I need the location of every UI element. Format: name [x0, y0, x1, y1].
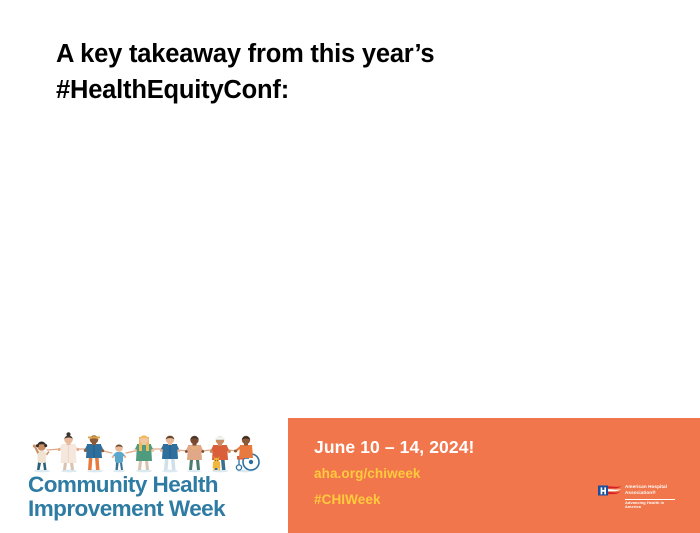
figure-blue-jacket-adult	[84, 435, 105, 470]
chiw-logo: Community Health Improvement Week	[27, 418, 277, 528]
figure-wheelchair-user	[234, 436, 259, 470]
event-url[interactable]: aha.org/chiweek	[314, 467, 474, 482]
aha-flag-h-icon	[598, 485, 622, 500]
people-holding-hands-illustration	[27, 418, 277, 473]
event-banner: June 10 – 14, 2024! aha.org/chiweek #CHI…	[288, 418, 700, 533]
banner-text-block: June 10 – 14, 2024! aha.org/chiweek #CHI…	[314, 438, 474, 508]
slide-canvas: A key takeaway from this year’s #HealthE…	[0, 0, 700, 533]
chiw-wordmark-line-1: Community Health	[28, 473, 278, 497]
event-date: June 10 – 14, 2024!	[314, 438, 474, 457]
aha-name-line-2: Association®	[625, 490, 675, 496]
figure-blue-coat-adult-2	[160, 435, 181, 470]
aha-tagline: Advancing Health in America	[625, 501, 677, 510]
figure-small-child-blue	[112, 444, 127, 470]
figure-with-service-dog	[210, 436, 231, 470]
figure-coat-adult	[58, 432, 80, 470]
page-title: A key takeaway from this year’s #HealthE…	[56, 36, 616, 108]
chiw-wordmark-line-2: Improvement Week	[28, 497, 278, 521]
figure-green-top-adult	[134, 435, 155, 470]
headline-line-1: A key takeaway from this year’s	[56, 36, 616, 72]
event-hashtag: #CHIWeek	[314, 493, 474, 508]
aha-logo: American Hospital Association® Advancing…	[598, 484, 676, 512]
chiw-wordmark: Community Health Improvement Week	[28, 473, 278, 521]
headline-line-2: #HealthEquityConf:	[56, 72, 616, 108]
figure-child-raised-arm	[33, 441, 50, 470]
aha-wordmark: American Hospital Association®	[625, 484, 675, 495]
figure-elder-adult	[185, 436, 204, 470]
